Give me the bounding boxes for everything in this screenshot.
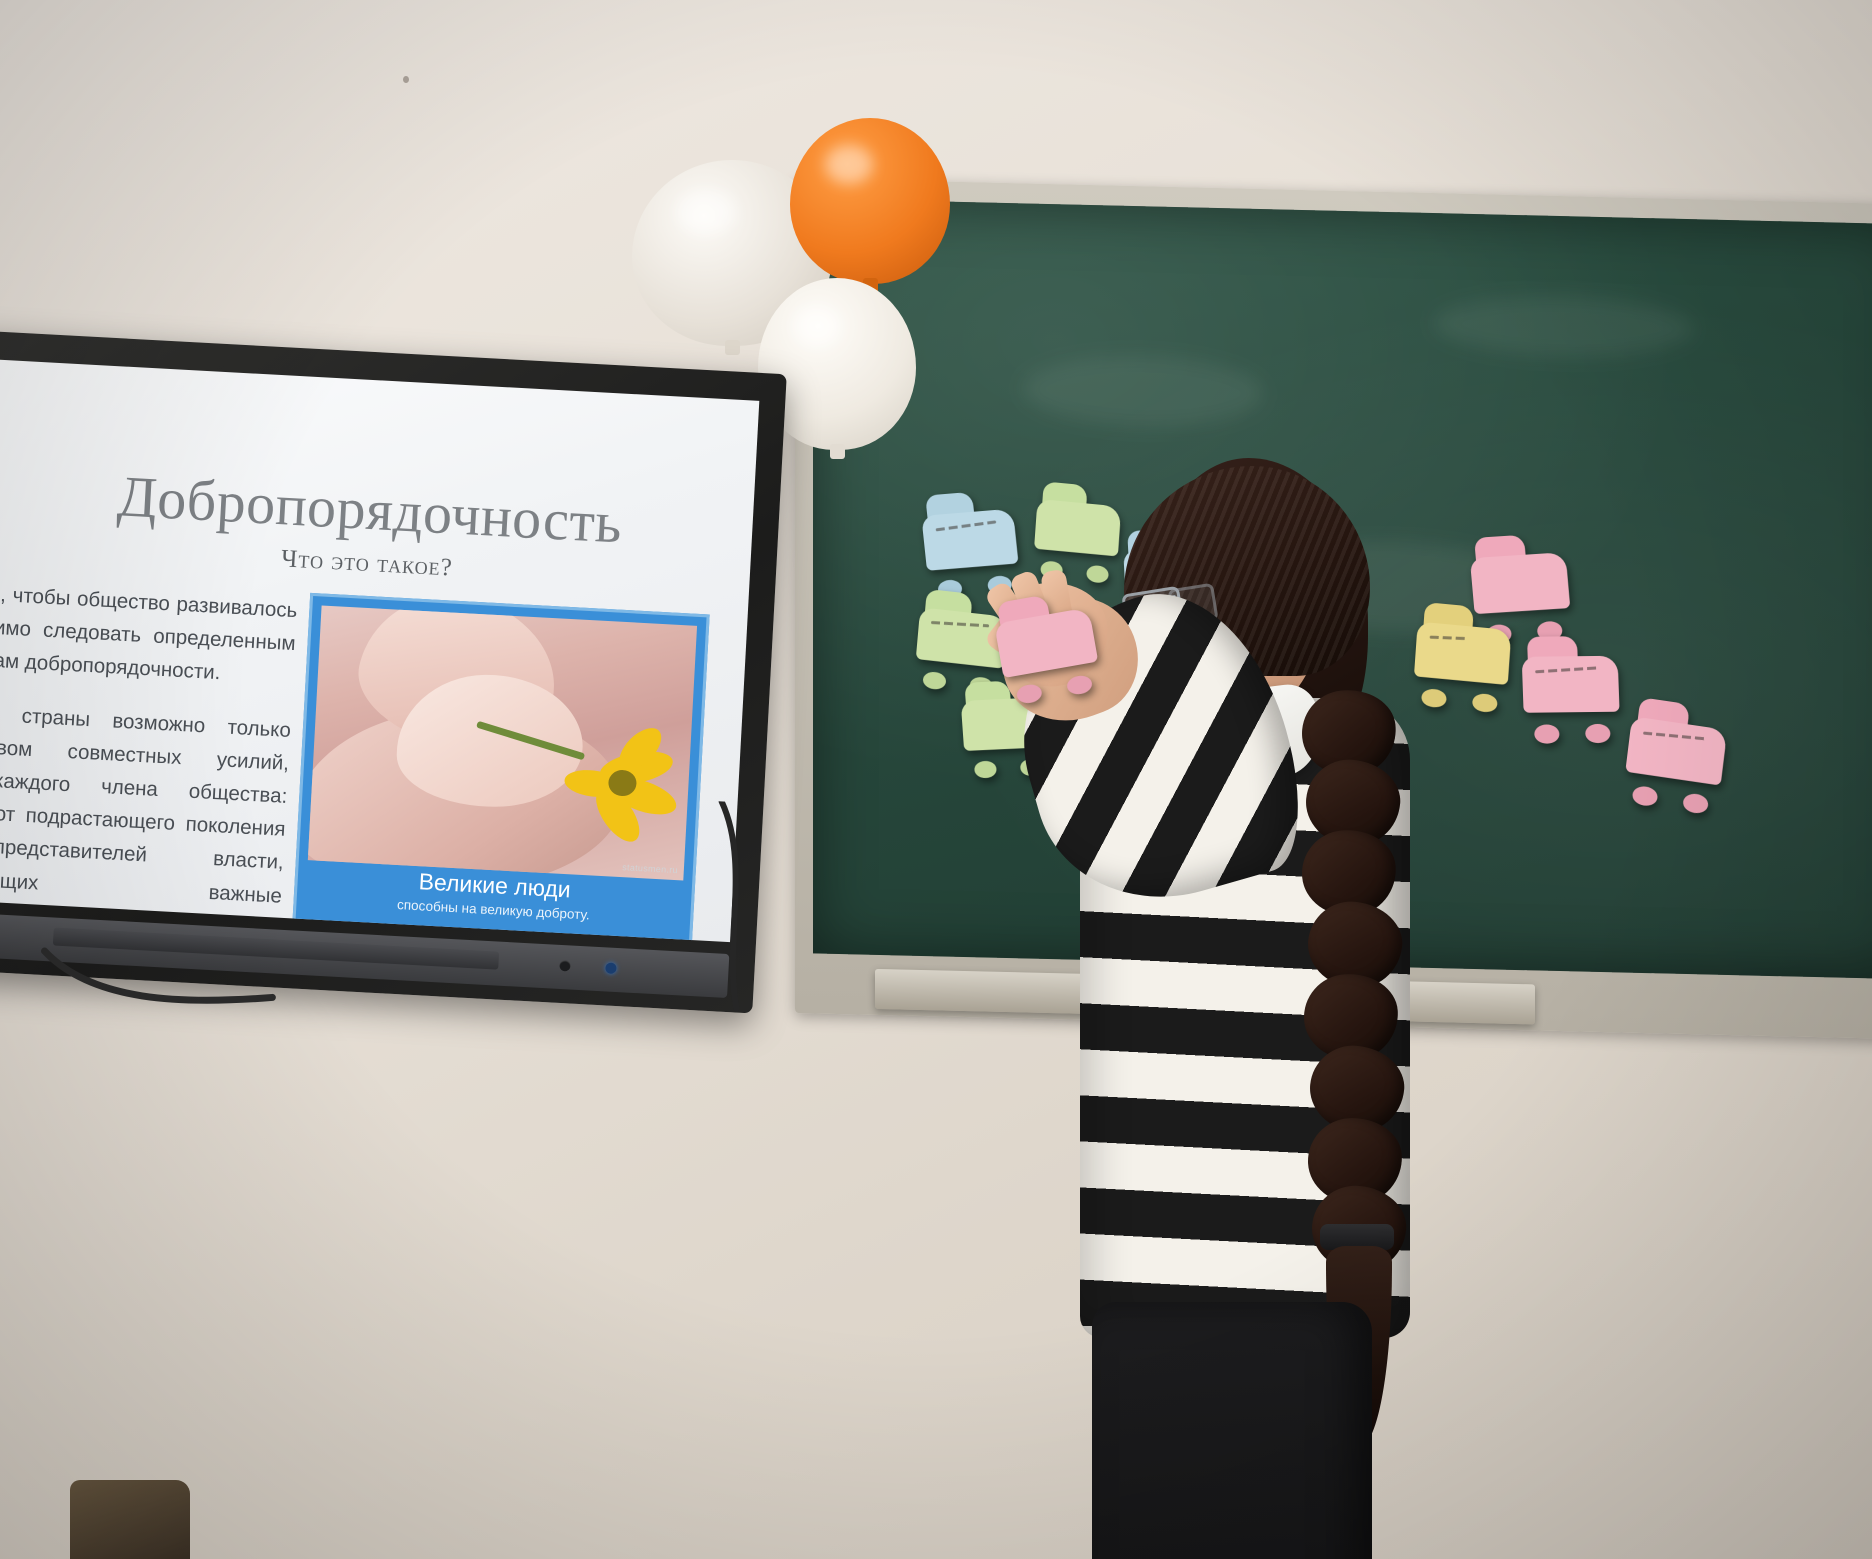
slide-figure: statusmen.ru Великие люди способны на ве… — [292, 593, 710, 942]
slide-body-text: Для того, чтобы общество развивалось нео… — [0, 574, 298, 942]
display-screen[interactable]: Добропорядочность Что это такое? Для тог… — [0, 359, 759, 942]
note-wheel — [1585, 724, 1611, 743]
classroom-scene: Добропорядочность Что это такое? Для тог… — [0, 0, 1872, 1559]
balloon-knot — [725, 340, 740, 355]
sticky-note-car[interactable] — [1470, 552, 1572, 636]
chalk-smudge — [1023, 353, 1263, 429]
sticky-note-in-hand[interactable] — [994, 607, 1102, 699]
chalk-smudge — [1433, 293, 1693, 359]
figure-photo: statusmen.ru — [308, 606, 697, 881]
display-side-cable — [702, 801, 783, 1014]
figure-watermark: statusmen.ru — [622, 862, 678, 875]
note-handwriting — [1644, 732, 1707, 741]
balloon-orange — [790, 118, 950, 284]
note-body — [1522, 656, 1620, 713]
foreground-object — [70, 1480, 190, 1559]
sticky-note-car[interactable] — [1623, 716, 1728, 807]
note-body — [921, 509, 1018, 571]
indicator-dot-icon — [559, 960, 571, 972]
display-cable — [32, 947, 285, 1020]
note-handwriting — [935, 520, 995, 531]
interactive-display-panel[interactable]: Добропорядочность Что это такое? Для тог… — [0, 330, 787, 1013]
sticky-note-car[interactable] — [921, 509, 1020, 592]
wall-speck — [403, 76, 409, 83]
power-dot-icon[interactable] — [605, 962, 617, 974]
note-handwriting — [1536, 667, 1599, 674]
note-wheel — [1534, 724, 1560, 743]
slide-paragraph-2: Развитие страны возможно только посредст… — [0, 693, 292, 942]
note-handwriting — [931, 621, 989, 627]
note-body — [1470, 552, 1571, 614]
black-skirt — [1092, 1302, 1372, 1559]
balloon-knot — [830, 444, 845, 459]
sticky-note-car[interactable] — [1522, 656, 1621, 735]
slide-paragraph-1: Для того, чтобы общество развивалось нео… — [0, 574, 298, 694]
